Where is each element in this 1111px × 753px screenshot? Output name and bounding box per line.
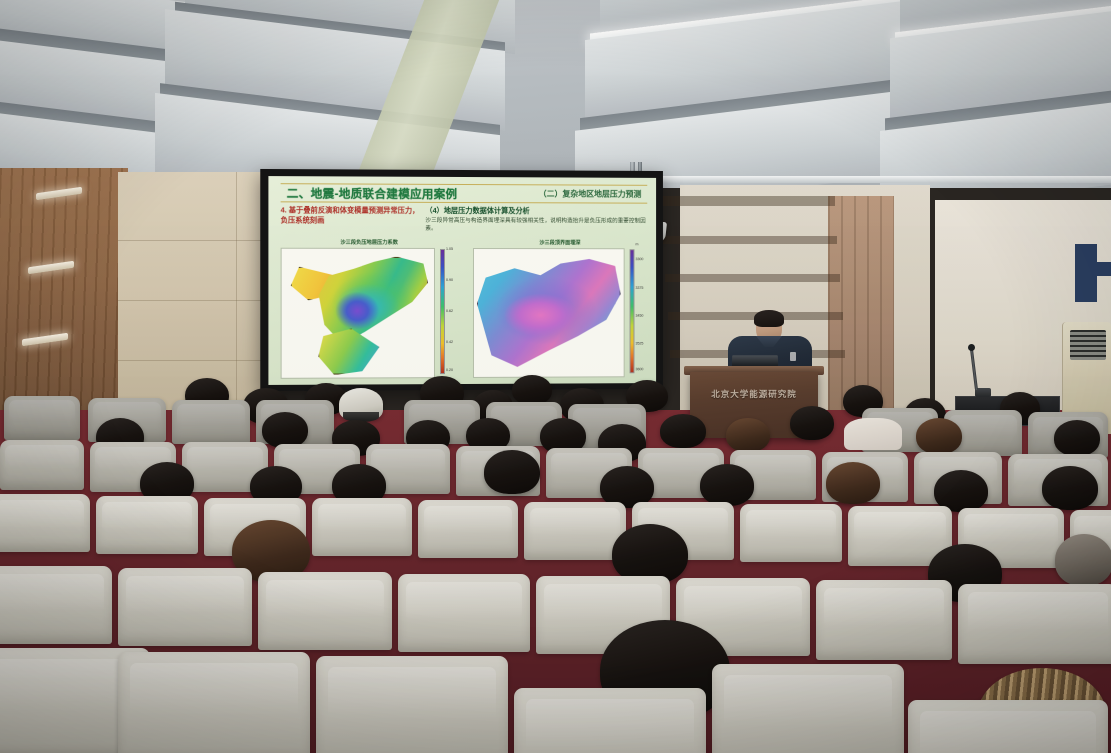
wall-trim	[662, 236, 837, 244]
audience-head	[612, 524, 688, 584]
presentation-slide: 二、地震-地质联合建模应用案例 （二）复杂地区地层压力预测 4. 基于叠前反演和…	[268, 176, 656, 385]
seat[interactable]	[118, 568, 252, 646]
microphone-capsule-icon	[968, 344, 975, 351]
colorbar-tick: 0.62	[446, 309, 453, 313]
slide-body-text: 沙三段异常高压与构造界面埋深具有较强相关性，说明构造抬升是负压形成的重要控制因素…	[425, 217, 649, 234]
seat[interactable]	[958, 584, 1111, 664]
slide-subtitle-line2: 负压系统刻画	[281, 215, 420, 225]
seat[interactable]	[418, 500, 518, 558]
map-region-south	[318, 329, 379, 376]
wall-trim	[665, 274, 840, 282]
seat[interactable]	[312, 498, 412, 556]
colorbar-tick: 3525	[635, 342, 643, 346]
colorbar-unit: m	[635, 242, 638, 246]
slide-surface: 二、地震-地质联合建模应用案例 （二）复杂地区地层压力预测 4. 基于叠前反演和…	[268, 176, 656, 385]
audience-head	[790, 406, 834, 440]
wall-trim	[660, 196, 835, 206]
slide-title-bar: 二、地震-地质联合建模应用案例 （二）复杂地区地层压力预测	[281, 183, 648, 203]
seat[interactable]	[258, 572, 392, 650]
colorbar-tick: 0.42	[446, 340, 453, 344]
podium-inscription: 北京大学能源研究院	[690, 388, 818, 400]
audience-head	[512, 375, 552, 405]
seat[interactable]	[398, 574, 530, 652]
slide-subtitle-red: 4. 基于叠前反演和体变模量预测异常压力， 负压系统刻画	[281, 205, 420, 225]
conference-hall-scene: 二、地震-地质联合建模应用案例 （二）复杂地区地层压力预测 4. 基于叠前反演和…	[0, 0, 1111, 753]
audience-head	[484, 450, 540, 494]
colorbar-tick: 0.20	[446, 368, 453, 372]
slide-section-label: （二）复杂地区地层压力预测	[539, 188, 642, 199]
chart-colorbar	[440, 249, 445, 374]
seat[interactable]	[0, 566, 112, 644]
audience-head	[262, 412, 308, 448]
audience-head	[700, 464, 754, 506]
chart-map-canvas	[473, 248, 625, 378]
seat[interactable]	[4, 396, 80, 440]
seat[interactable]	[712, 664, 904, 753]
audience-head-cap	[339, 388, 383, 420]
audience-head	[1042, 466, 1098, 510]
chart-colorbar-ticks: 1.05 0.90 0.62 0.42 0.20	[446, 247, 461, 376]
colorbar-tick: 3450	[635, 314, 643, 318]
audience-head	[1055, 534, 1111, 586]
chart-title: 沙三段顶界面埋深	[469, 239, 650, 246]
seat[interactable]	[514, 688, 706, 753]
slide-title: 二、地震-地质联合建模应用案例	[287, 185, 458, 202]
audience-head	[1054, 420, 1100, 456]
colorbar-tick: 0.90	[446, 278, 453, 282]
chart-pressure-coefficient: 沙三段负压地层压力系数 1.05 0.90 0.62 0.42 0	[277, 239, 461, 381]
seat[interactable]	[0, 440, 84, 490]
map-region-depth	[477, 254, 621, 372]
seat[interactable]	[524, 502, 626, 560]
exit-sign-icon	[1075, 244, 1097, 302]
slide-chart-row: 沙三段负压地层压力系数 1.05 0.90 0.62 0.42 0	[277, 239, 651, 381]
audience-head	[916, 418, 962, 454]
wall-panel-wood-left	[0, 168, 128, 420]
slide-subtitle-row: 4. 基于叠前反演和体变模量预测异常压力， 负压系统刻画 （4）地层压力数据体计…	[281, 205, 650, 233]
chart-colorbar	[630, 249, 635, 373]
audience-shoulders	[844, 418, 902, 450]
slide-bullet-point: （4）地层压力数据体计算及分析	[425, 206, 649, 217]
ac-vent-grille	[1070, 330, 1106, 360]
projection-screen: 二、地震-地质联合建模应用案例 （二）复杂地区地层压力预测 4. 基于叠前反演和…	[260, 169, 663, 391]
presenter-hair	[754, 310, 784, 327]
seat[interactable]	[0, 494, 90, 552]
audience-head	[726, 418, 770, 452]
chart-title: 沙三段负压地层压力系数	[277, 239, 461, 246]
seat[interactable]	[96, 496, 198, 554]
seat[interactable]	[816, 580, 952, 660]
map-region-main	[315, 257, 428, 345]
ceiling	[0, 0, 1111, 188]
colorbar-tick: 3300	[635, 257, 643, 261]
colorbar-tick: 1.05	[446, 247, 453, 251]
chart-map-canvas	[281, 248, 435, 379]
seat[interactable]	[172, 400, 250, 444]
presenter-badge	[790, 352, 796, 361]
colorbar-tick: 3375	[635, 286, 643, 290]
seat[interactable]	[316, 656, 508, 753]
colorbar-tick: 3600	[635, 368, 643, 372]
audience-head	[660, 414, 706, 448]
slide-subtitle-line1: 4. 基于叠前反演和体变模量预测异常压力，	[281, 205, 420, 214]
seat[interactable]	[740, 504, 842, 562]
audience-head	[826, 462, 880, 504]
chart-top-surface-depth: 沙三段顶界面埋深 m 3300 3375 3450 3525 3600	[469, 239, 650, 380]
seat[interactable]	[118, 652, 310, 753]
slide-body-block: （4）地层压力数据体计算及分析 沙三段异常高压与构造界面埋深具有较强相关性，说明…	[425, 206, 649, 234]
seat[interactable]	[908, 700, 1108, 753]
chart-colorbar-ticks: m 3300 3375 3450 3525 3600	[635, 247, 650, 375]
